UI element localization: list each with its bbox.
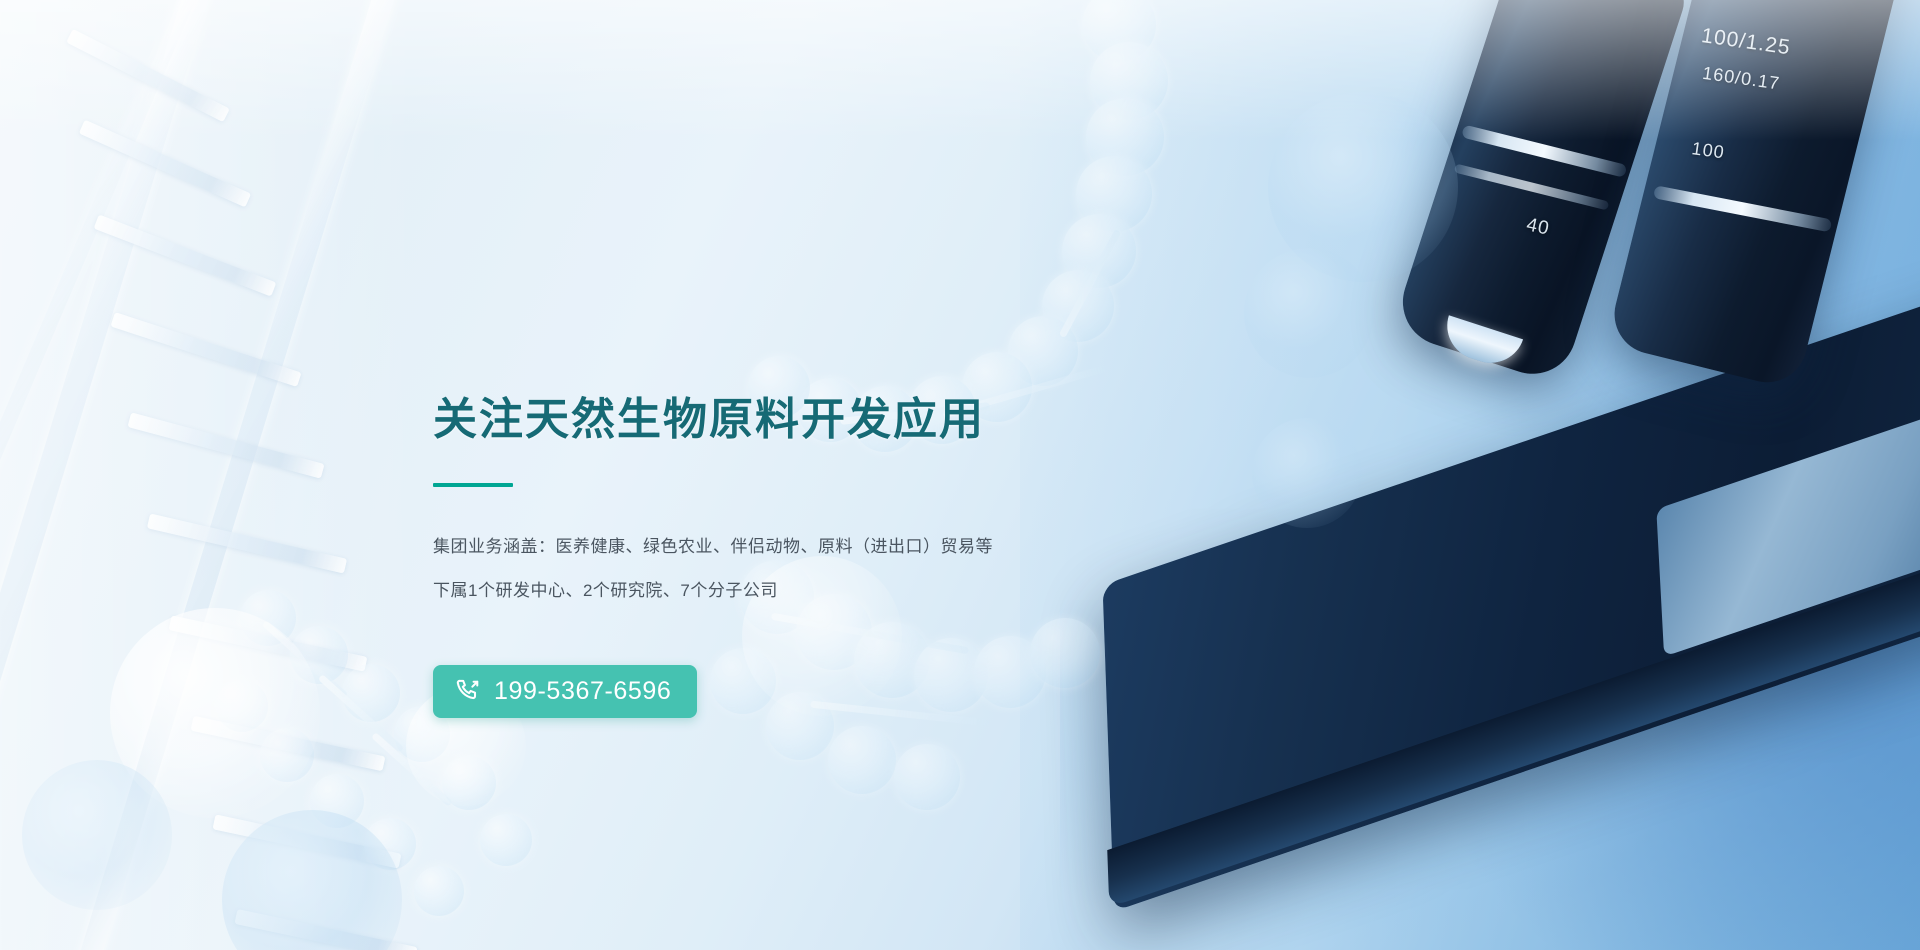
description-line: 下属1个研发中心、2个研究院、7个分子公司 (433, 577, 1213, 604)
microscope-slide-holder (1656, 397, 1920, 656)
objective-magnification-40: 40 (1524, 214, 1551, 240)
page-title: 关注天然生物原料开发应用 (433, 392, 1213, 447)
bokeh-orb (110, 608, 320, 818)
phone-number-label: 199-5367-6596 (494, 677, 671, 706)
microscope-stage-edge (1107, 551, 1920, 908)
bokeh-orb (222, 810, 402, 950)
title-divider (433, 483, 513, 487)
objective-lens-front: 40 (1391, 0, 1690, 385)
bokeh-orb (22, 760, 172, 910)
objective-tube-label: 160/0.17 (1701, 63, 1781, 95)
objective-lens-rear: 100/1.25 160/0.17 100 (1606, 0, 1910, 391)
bokeh-orb (1268, 92, 1458, 282)
hero-description: 集团业务涵盖：医养健康、绿色农业、伴侣动物、原料（进出口）贸易等 下属1个研发中… (433, 533, 1213, 604)
objective-aperture-label: 100/1.25 (1700, 24, 1792, 60)
left-fade-overlay (0, 0, 420, 950)
hero-content: 关注天然生物原料开发应用 集团业务涵盖：医养健康、绿色农业、伴侣动物、原料（进出… (433, 392, 1213, 718)
hero-banner: 40 100/1.25 160/0.17 100 (0, 0, 1920, 950)
bokeh-orb (1252, 418, 1362, 528)
microscope-stage (1103, 279, 1920, 912)
bokeh-orb (1244, 248, 1374, 378)
microscope-illustration: 40 100/1.25 160/0.17 100 (1100, 0, 1920, 950)
top-fade-overlay (0, 0, 1920, 140)
description-line: 集团业务涵盖：医养健康、绿色农业、伴侣动物、原料（进出口）贸易等 (433, 533, 1213, 560)
phone-cta-button[interactable]: 199-5367-6596 (433, 665, 697, 718)
phone-outgoing-icon (455, 677, 482, 707)
objective-magnification-100: 100 (1690, 138, 1726, 163)
